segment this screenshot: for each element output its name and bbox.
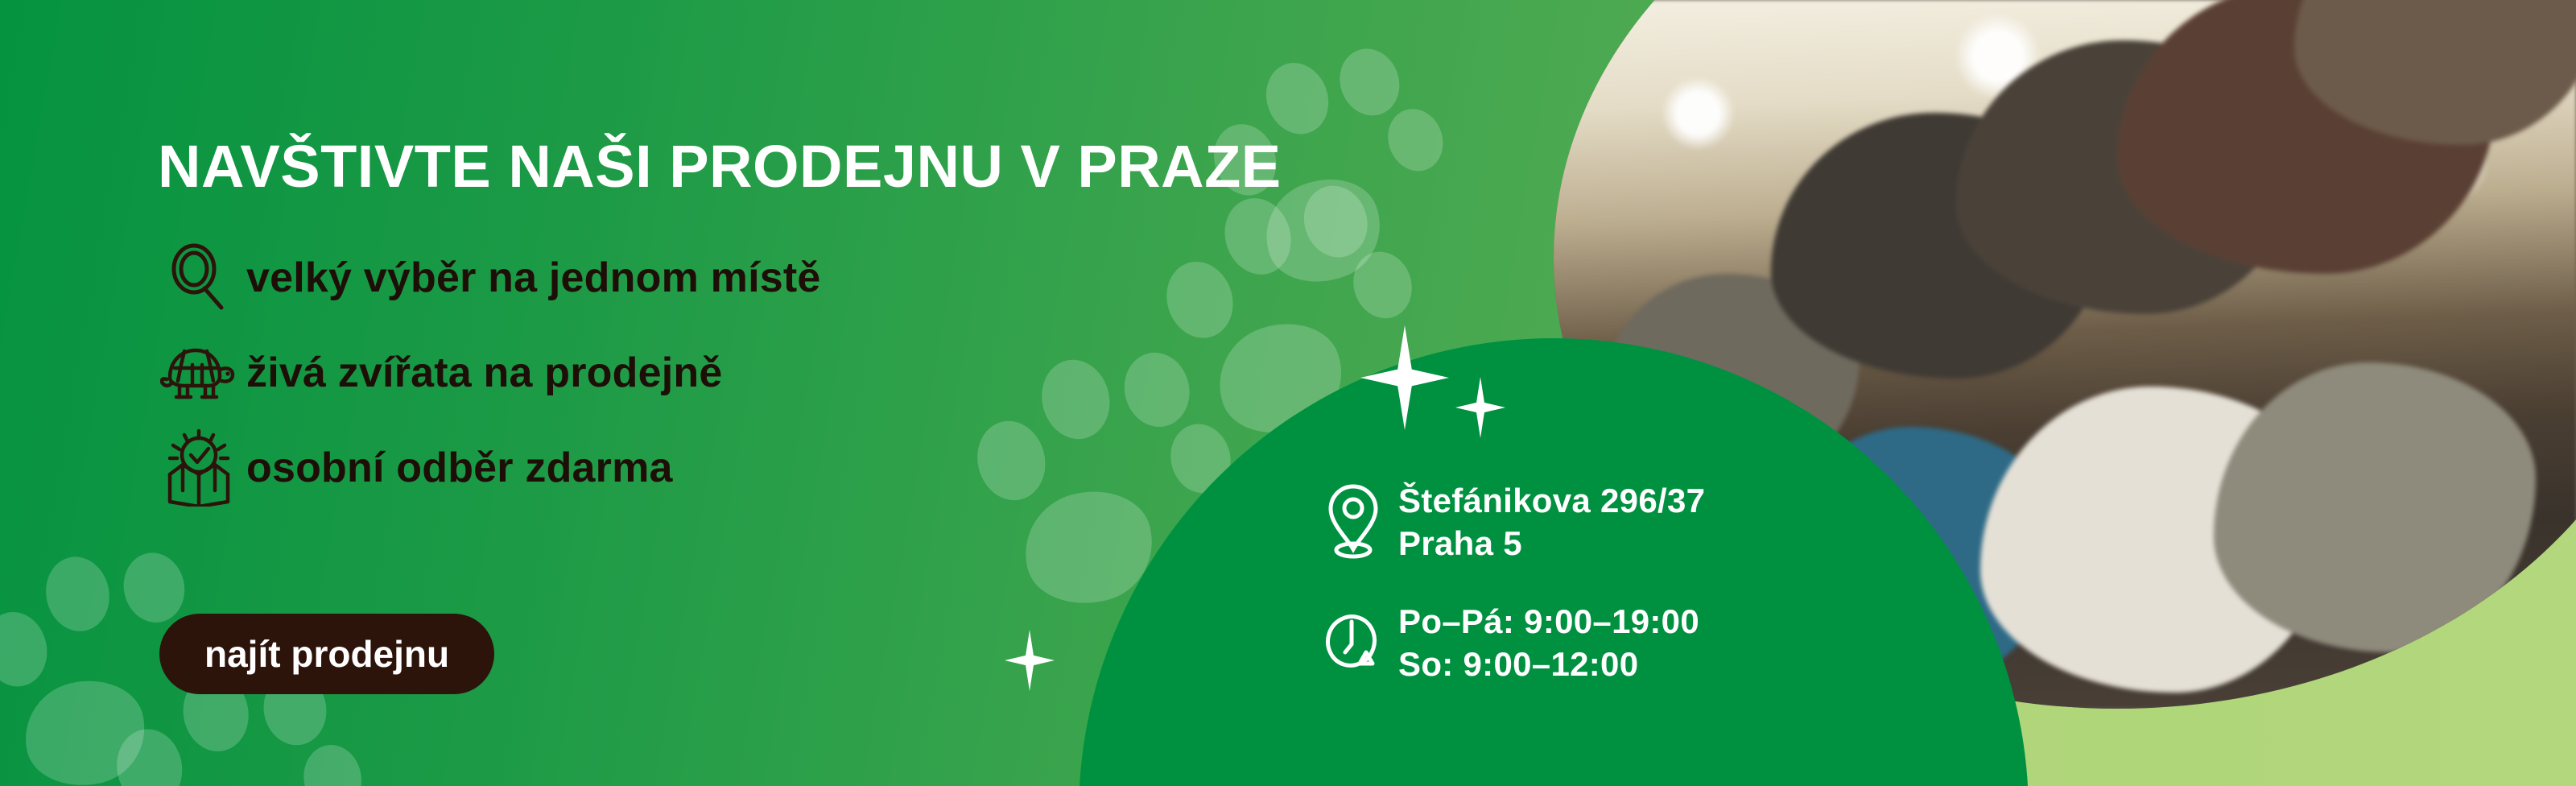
list-item: živá zvířata na prodejně — [151, 325, 821, 420]
map-pin-icon — [1308, 480, 1398, 559]
store-hours-line2: So: 9:00–12:00 — [1398, 643, 1699, 686]
list-item: osobní odběr zdarma — [151, 420, 821, 515]
find-store-button[interactable]: najít prodejnu — [159, 614, 494, 694]
store-address: Štefánikova 296/37 Praha 5 — [1308, 480, 1705, 565]
list-item-label: živá zvířata na prodejně — [246, 349, 722, 397]
list-item-label: osobní odběr zdarma — [246, 444, 673, 492]
store-hours: Po–Pá: 9:00–19:00 So: 9:00–12:00 — [1308, 601, 1705, 686]
page-title: NAVŠTIVTE NAŠI PRODEJNU V PRAZE — [158, 137, 1282, 196]
feature-list: velký výběr na jednom místě živá zvířata… — [151, 230, 821, 515]
store-address-line2: Praha 5 — [1398, 523, 1705, 565]
clock-icon — [1308, 601, 1398, 672]
store-address-line1: Štefánikova 296/37 — [1398, 480, 1705, 523]
store-hours-line1: Po–Pá: 9:00–19:00 — [1398, 601, 1699, 643]
store-hours-text: Po–Pá: 9:00–19:00 So: 9:00–12:00 — [1398, 601, 1699, 686]
store-address-text: Štefánikova 296/37 Praha 5 — [1398, 480, 1705, 565]
list-item-label: velký výběr na jednom místě — [246, 254, 821, 302]
open-box-check-icon — [151, 429, 246, 507]
magnifier-icon — [151, 243, 246, 312]
store-promo-banner: NAVŠTIVTE NAŠI PRODEJNU V PRAZE velký vý… — [0, 0, 2576, 786]
store-info-block: Štefánikova 296/37 Praha 5 Po–Pá: 9:00–1… — [1308, 480, 1705, 686]
turtle-icon — [151, 341, 246, 405]
list-item: velký výběr na jednom místě — [151, 230, 821, 325]
